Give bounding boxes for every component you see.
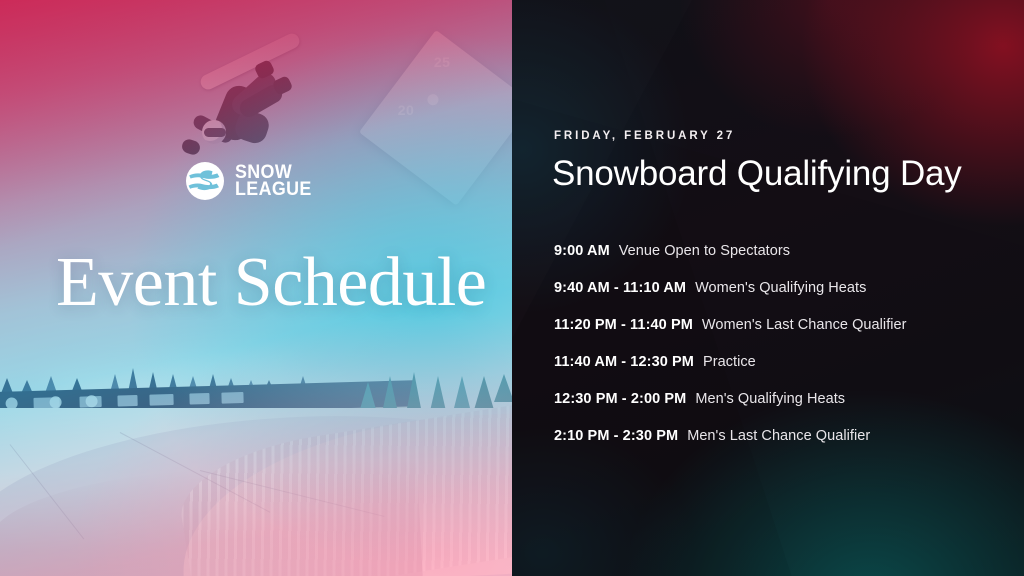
schedule-description: Women's Last Chance Qualifier [702, 317, 907, 333]
schedule-day-title: Snowboard Qualifying Day [552, 155, 962, 194]
schedule-row: 9:40 AM - 11:10 AM Women's Qualifying He… [554, 280, 984, 317]
schedule-row: 11:40 AM - 12:30 PM Practice [554, 354, 984, 391]
schedule-row: 11:20 PM - 11:40 PM Women's Last Chance … [554, 317, 984, 354]
schedule-description: Men's Qualifying Heats [695, 391, 845, 407]
snow-league-globe-icon [186, 162, 224, 200]
schedule-row: 2:10 PM - 2:30 PM Men's Last Chance Qual… [554, 428, 984, 465]
schedule-row: 12:30 PM - 2:00 PM Men's Qualifying Heat… [554, 391, 984, 428]
schedule-time: 11:20 PM - 11:40 PM [554, 317, 693, 333]
event-schedule-graphic: 25 20 [0, 0, 1024, 576]
schedule-time: 12:30 PM - 2:00 PM [554, 391, 686, 407]
left-photo-panel: 25 20 [0, 0, 512, 576]
schedule-description: Practice [703, 354, 756, 370]
schedule-row: 9:00 AM Venue Open to Spectators [554, 243, 984, 280]
schedule-time: 2:10 PM - 2:30 PM [554, 428, 678, 444]
schedule-list: 9:00 AM Venue Open to Spectators 9:40 AM… [554, 243, 984, 465]
schedule-date-eyebrow: FRIDAY, FEBRUARY 27 [554, 130, 735, 142]
schedule-time: 9:00 AM [554, 243, 610, 259]
schedule-time: 9:40 AM - 11:10 AM [554, 280, 686, 296]
snow-league-logo: SNOW LEAGUE [186, 162, 317, 200]
wordmark-line-2: LEAGUE [235, 181, 312, 198]
schedule-description: Men's Last Chance Qualifier [687, 428, 870, 444]
schedule-time: 11:40 AM - 12:30 PM [554, 354, 694, 370]
page-title: Event Schedule [56, 248, 496, 318]
schedule-description: Venue Open to Spectators [619, 243, 790, 259]
schedule-description: Women's Qualifying Heats [695, 280, 866, 296]
snow-league-wordmark: SNOW LEAGUE [235, 164, 317, 199]
